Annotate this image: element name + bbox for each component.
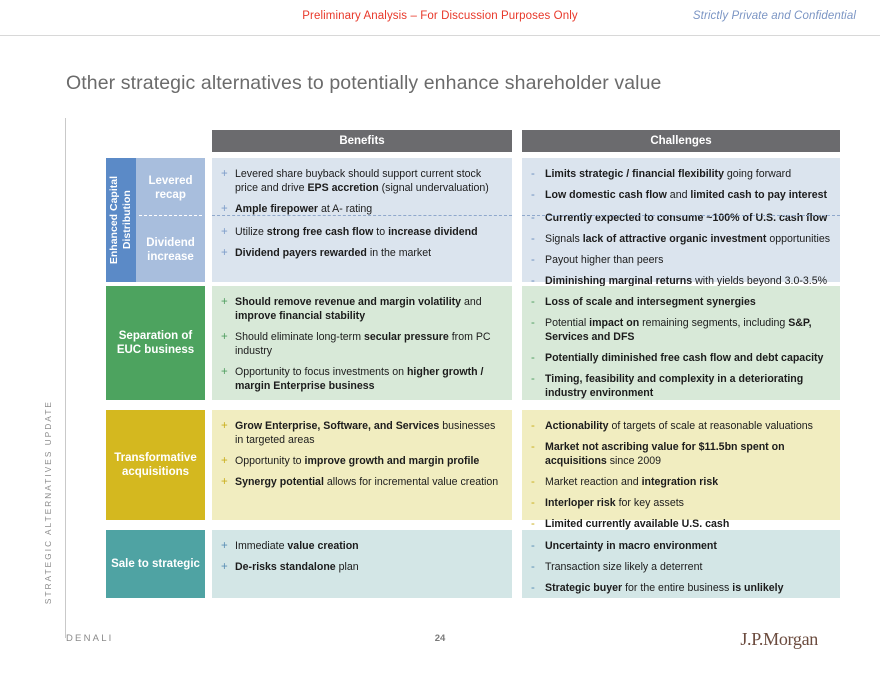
column-header-challenges: Challenges (522, 130, 840, 152)
top-banner: Preliminary Analysis – For Discussion Pu… (0, 0, 880, 38)
dashed-subdivider-category (139, 215, 202, 216)
bullet-group: -Actionability of targets of scale at re… (531, 419, 830, 531)
bullet-marker-minus-icon: - (531, 419, 535, 434)
bullet-marker-minus-icon: - (531, 232, 535, 247)
bullet-group: -Uncertainty in macro environment-Transa… (531, 539, 830, 595)
content-cell-benefits: +Should remove revenue and margin volati… (212, 286, 512, 400)
category-cell[interactable]: Separation of EUC business (106, 286, 205, 400)
bullet-group: +Utilize strong free cash flow to increa… (221, 225, 502, 260)
bullet-item: -Strategic buyer for the entire business… (531, 581, 830, 595)
category-cell[interactable]: Dividend increase (136, 218, 205, 282)
bullet-marker-minus-icon: - (531, 253, 535, 268)
bullet-item: +De-risks standalone plan (221, 560, 502, 574)
content-cell-benefits: +Grow Enterprise, Software, and Services… (212, 410, 512, 520)
bullet-item: +Grow Enterprise, Software, and Services… (221, 419, 502, 447)
bullet-item: +Synergy potential allows for incrementa… (221, 475, 502, 489)
content-cell-challenges: -Actionability of targets of scale at re… (522, 410, 840, 520)
bullet-group: +Should remove revenue and margin volati… (221, 295, 502, 393)
bullet-marker-plus-icon: + (221, 560, 228, 575)
bullet-marker-minus-icon: - (531, 539, 535, 554)
bullet-item: -Transaction size likely a deterrent (531, 560, 830, 574)
category-label: Dividend increase (136, 236, 205, 265)
bullet-item: +Should eliminate long-term secular pres… (221, 330, 502, 358)
category-label: Levered recap (136, 174, 205, 203)
bullet-item: -Limits strategic / financial flexibilit… (531, 167, 830, 181)
bullet-item: -Timing, feasibility and complexity in a… (531, 372, 830, 400)
content-cell-challenges: -Loss of scale and intersegment synergie… (522, 286, 840, 400)
category-cell[interactable]: Sale to strategic (106, 530, 205, 598)
bullet-item: -Actionability of targets of scale at re… (531, 419, 830, 433)
content-cell-benefits: +Levered share buyback should support cu… (212, 158, 512, 282)
page-title: Other strategic alternatives to potentia… (66, 72, 662, 95)
bullet-item: +Should remove revenue and margin volati… (221, 295, 502, 323)
bullet-item: +Opportunity to focus investments on hig… (221, 365, 502, 393)
bullet-item: +Utilize strong free cash flow to increa… (221, 225, 502, 239)
bullet-item: +Immediate value creation (221, 539, 502, 553)
bullet-item: -Low domestic cash flow and limited cash… (531, 188, 830, 202)
bullet-group: +Levered share buyback should support cu… (221, 167, 502, 216)
bullet-group: +Grow Enterprise, Software, and Services… (221, 419, 502, 489)
bullet-item: -Interloper risk for key assets (531, 496, 830, 510)
bullet-item: +Levered share buyback should support cu… (221, 167, 502, 195)
content-cell-challenges: -Uncertainty in macro environment-Transa… (522, 530, 840, 598)
bullet-item: +Opportunity to improve growth and margi… (221, 454, 502, 468)
bullet-group: -Currently expected to consume ~100% of … (531, 211, 830, 288)
bullet-marker-minus-icon: - (531, 316, 535, 331)
category-label: Sale to strategic (111, 557, 200, 571)
side-rail-label: STRATEGIC ALTERNATIVES UPDATE (44, 400, 66, 604)
bullet-marker-minus-icon: - (531, 372, 535, 387)
bullet-marker-minus-icon: - (531, 581, 535, 596)
bullet-marker-minus-icon: - (531, 167, 535, 182)
bullet-item: -Currently expected to consume ~100% of … (531, 211, 830, 225)
content-cell-challenges: -Limits strategic / financial flexibilit… (522, 158, 840, 282)
bullet-marker-plus-icon: + (221, 454, 228, 469)
confidential-note: Strictly Private and Confidential (693, 10, 856, 22)
category-label: Transformative acquisitions (106, 451, 205, 480)
dashed-subdivider (212, 215, 512, 216)
bullet-marker-plus-icon: + (221, 295, 228, 310)
bullet-marker-plus-icon: + (221, 539, 228, 554)
bullet-marker-plus-icon: + (221, 246, 228, 261)
bullet-marker-plus-icon: + (221, 225, 228, 240)
bullet-marker-minus-icon: - (531, 440, 535, 455)
bullet-marker-minus-icon: - (531, 295, 535, 310)
category-cell[interactable]: Levered recap (136, 158, 205, 218)
bullet-item: -Market not ascribing value for $11.5bn … (531, 440, 830, 468)
category-group-enhanced-capital-distribution[interactable]: Enhanced Capital Distribution (106, 158, 136, 282)
bullet-marker-minus-icon: - (531, 188, 535, 203)
bullet-item: -Market reaction and integration risk (531, 475, 830, 489)
bullet-marker-minus-icon: - (531, 560, 535, 575)
bullet-group: +Immediate value creation+De-risks stand… (221, 539, 502, 574)
bullet-group: -Loss of scale and intersegment synergie… (531, 295, 830, 400)
bullet-marker-plus-icon: + (221, 475, 228, 490)
bullet-item: +Dividend payers rewarded in the market (221, 246, 502, 260)
column-header-challenges-label: Challenges (650, 135, 711, 147)
bullet-item: -Signals lack of attractive organic inve… (531, 232, 830, 246)
bullet-marker-plus-icon: + (221, 330, 228, 345)
bullet-item: -Potential impact on remaining segments,… (531, 316, 830, 344)
bullet-group: -Limits strategic / financial flexibilit… (531, 167, 830, 202)
bullet-item: -Payout higher than peers (531, 253, 830, 267)
jpmorgan-logo: J.P.Morgan (740, 629, 818, 650)
bullet-marker-plus-icon: + (221, 365, 228, 380)
bullet-marker-minus-icon: - (531, 496, 535, 511)
bullet-marker-plus-icon: + (221, 167, 228, 182)
bullet-item: -Potentially diminished free cash flow a… (531, 351, 830, 365)
column-header-benefits-label: Benefits (339, 135, 384, 147)
category-cell[interactable]: Transformative acquisitions (106, 410, 205, 520)
content-cell-benefits: +Immediate value creation+De-risks stand… (212, 530, 512, 598)
category-group-label: Enhanced Capital Distribution (108, 176, 134, 264)
banner-divider (0, 35, 880, 36)
bullet-item: -Loss of scale and intersegment synergie… (531, 295, 830, 309)
bullet-marker-plus-icon: + (221, 419, 228, 434)
bullet-marker-minus-icon: - (531, 351, 535, 366)
column-header-benefits: Benefits (212, 130, 512, 152)
bullet-marker-minus-icon: - (531, 475, 535, 490)
dashed-subdivider (522, 215, 840, 216)
bullet-item: -Uncertainty in macro environment (531, 539, 830, 553)
bullet-marker-minus-icon: - (531, 211, 535, 226)
category-label: Separation of EUC business (106, 329, 205, 358)
